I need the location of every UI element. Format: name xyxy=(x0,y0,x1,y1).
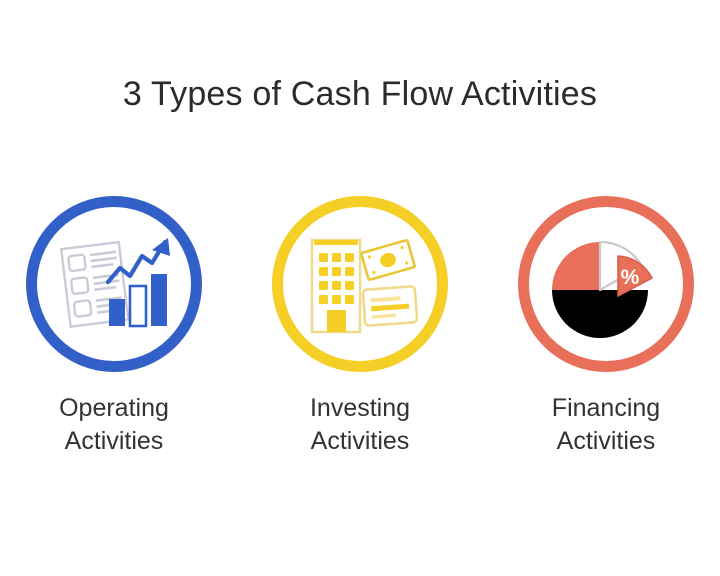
icon-circle-financing: % xyxy=(518,196,694,372)
building-money-card-icon xyxy=(296,220,424,348)
card-investing[interactable]: Investing Activities xyxy=(260,196,460,458)
card-operating[interactable]: Operating Activities xyxy=(14,196,214,458)
percent-symbol-text: % xyxy=(621,266,640,289)
icon-circle-investing xyxy=(272,196,448,372)
page-title: 3 Types of Cash Flow Activities xyxy=(0,74,720,115)
activity-cards: Operating Activities xyxy=(0,196,720,458)
card-label-investing: Investing Activities xyxy=(310,392,410,458)
card-financing[interactable]: % Financing Activities xyxy=(506,196,706,458)
icon-circle-operating xyxy=(26,196,202,372)
card-label-financing: Financing Activities xyxy=(552,392,660,458)
pie-chart-percent-icon: % xyxy=(542,220,670,348)
card-label-operating: Operating Activities xyxy=(59,392,169,458)
infographic-canvas: 3 Types of Cash Flow Activities xyxy=(0,0,720,576)
document-bar-chart-growth-icon xyxy=(50,220,178,348)
